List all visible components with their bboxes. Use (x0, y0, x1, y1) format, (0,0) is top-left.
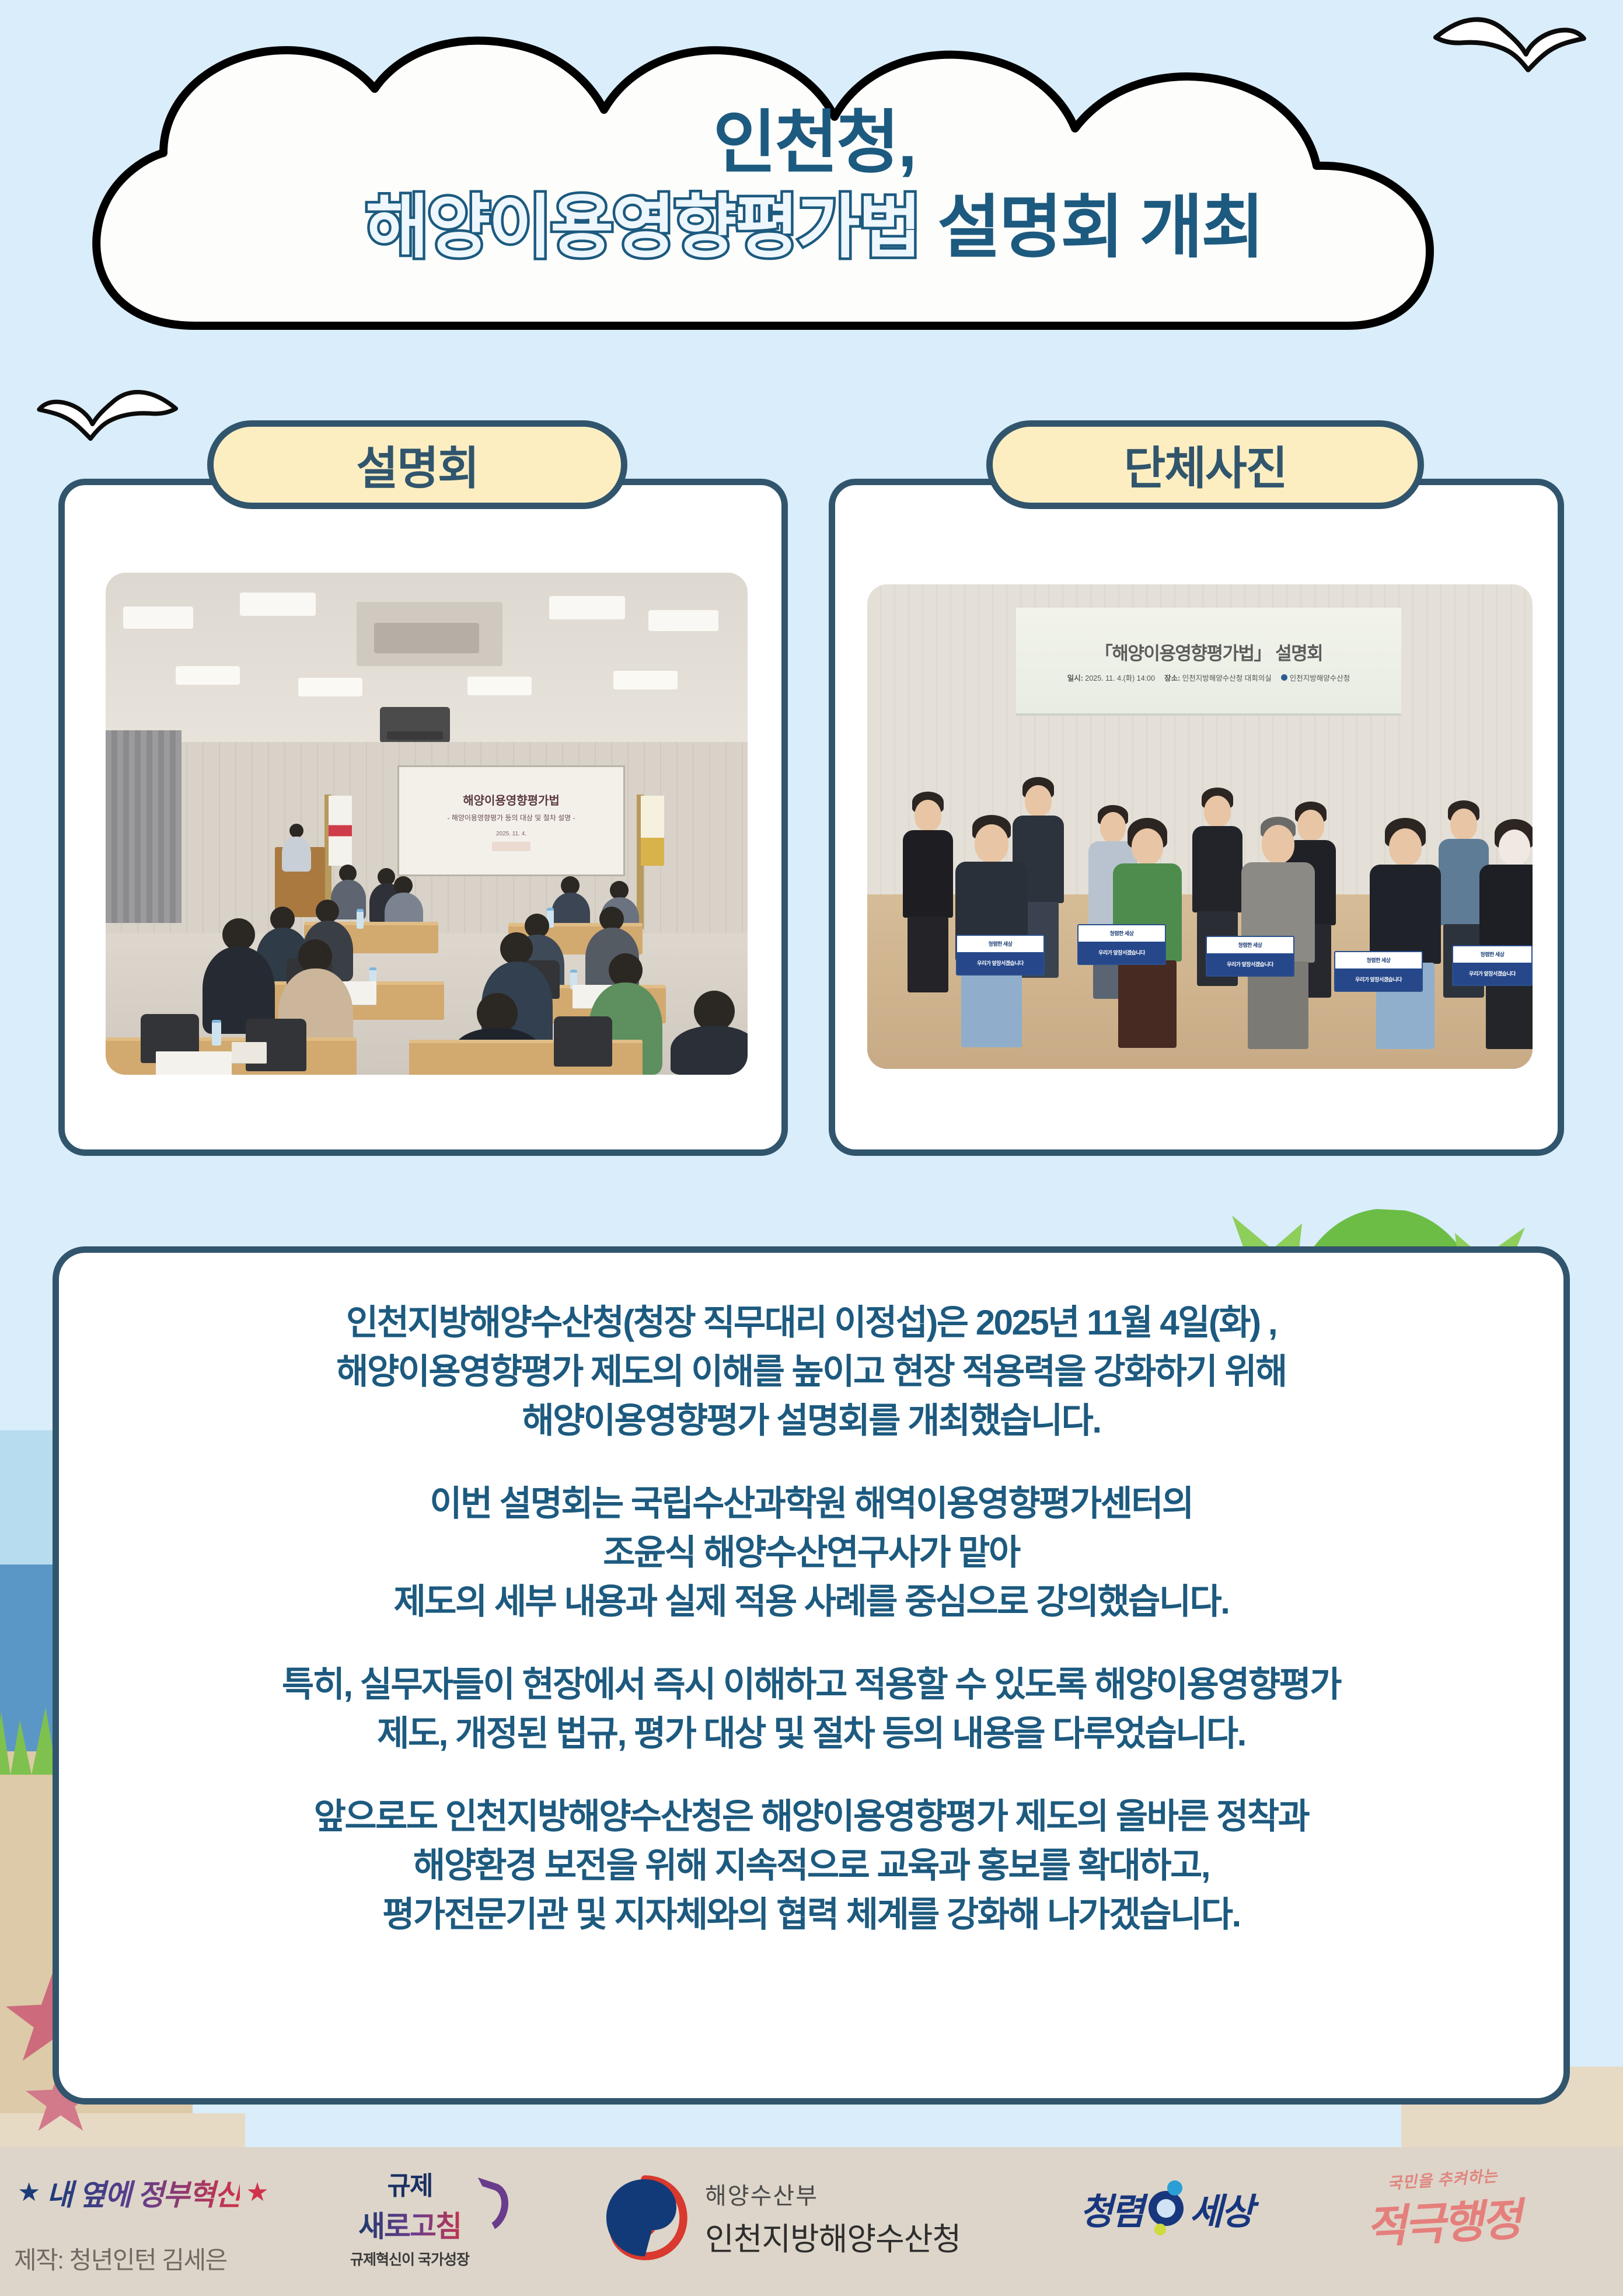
head (1204, 796, 1231, 827)
section-label-group-photo-text: 단체사진 (1123, 432, 1286, 497)
screen-where-label: 장소: (1164, 674, 1180, 682)
ceiling-light (549, 596, 625, 619)
screen-when: 일시: 2025. 11. 4.(화) 14:00 (1067, 672, 1155, 683)
refresh-arrow-icon (462, 2177, 514, 2237)
screen-when-value: 2025. 11. 4.(화) 14:00 (1085, 674, 1155, 682)
placard-top-text: 청렴한 세상 (957, 936, 1043, 952)
person-front-4 (1369, 818, 1441, 1043)
screen-subtitle: - 해양이용영향평가 등의 대상 및 절차 설명 - (447, 813, 575, 823)
paragraph-line: 제도의 세부 내용과 실제 적용 사례를 중심으로 강의했습니다. (111, 1577, 1511, 1626)
torso (903, 830, 953, 918)
screen-org-logo (492, 842, 530, 851)
page-title-line-2: 해양이용영향평가법 설명회 개최 (365, 184, 1262, 272)
placard: 청렴한 세상 우리가 앞장서겠습니다 (1206, 936, 1294, 977)
paragraph-line: 조윤식 해양수산연구사가 맡아 (111, 1528, 1511, 1577)
head (1132, 828, 1163, 865)
taeguk-emblem-icon (601, 2174, 689, 2262)
ceiling-light (176, 666, 240, 685)
water-bottle (212, 1020, 221, 1046)
group-photo-illustration: 「해양이용영향평가법」 설명회 일시: 2025. 11. 4.(화) 14:0… (867, 584, 1533, 1069)
paragraph-2: 이번 설명회는 국립수산과학원 해역이용영향평가센터의 조윤식 해양수산연구사가… (111, 1479, 1511, 1626)
head (1450, 809, 1477, 840)
reg-reform-line1: 규제 (387, 2165, 432, 2202)
projector-icon (380, 707, 450, 743)
screen-org-text: 인천지방해양수산청 (1290, 672, 1350, 683)
placard-top-text: 청렴한 세상 (1335, 952, 1422, 968)
handout-paper (156, 1051, 232, 1075)
paragraph-4: 앞으로도 인천지방해양수산청은 해양이용영향평가 제도의 올바른 정착과 해양환… (111, 1792, 1511, 1939)
logo-clean-world: 청렴 세상 (1080, 2182, 1252, 2235)
placard-bottom-text: 우리가 앞장서겠습니다 (957, 952, 1043, 974)
star-icon-left: ★ (18, 2180, 40, 2206)
active-admin-title: 적극행정 (1364, 2183, 1521, 2256)
section-label-briefing-text: 설명회 (356, 432, 478, 497)
attendee-body (671, 1026, 748, 1075)
torso (1370, 865, 1441, 964)
tissue-box (232, 1042, 267, 1063)
screen-details: 일시: 2025. 11. 4.(화) 14:00 장소: 인천지방해양수산청 … (1067, 672, 1350, 683)
ceiling-light (613, 671, 678, 689)
ministry-name: 해양수산부 (705, 2177, 961, 2211)
paragraph-1: 인천지방해양수산청(청장 직무대리 이정섭)은 2025년 11월 4일(화) … (111, 1298, 1511, 1445)
screen-title: 해양이용영향평가법 (463, 791, 560, 808)
production-credit: 제작: 청년인턴 김세은 (14, 2241, 227, 2276)
photo-group: 「해양이용영향평가법」 설명회 일시: 2025. 11. 4.(화) 14:0… (867, 584, 1533, 1069)
placard-bottom-text: 우리가 앞장서겠습니다 (1453, 963, 1531, 985)
screen-when-label: 일시: (1067, 674, 1083, 682)
paragraph-line: 평가전문기관 및 지자체와의 협력 체계를 강화해 나가겠습니다. (111, 1890, 1511, 1939)
attendee-head (316, 900, 339, 923)
presenter-body (282, 837, 311, 872)
logo-government-innovation: ★ 내 옆에 정부혁신 ★ (18, 2172, 269, 2214)
page-title-highlight: 해양이용영향평가법 (365, 189, 920, 266)
person-back-1 (902, 792, 954, 967)
placard-bottom-text: 우리가 앞장서겠습니다 (1207, 953, 1293, 975)
photo-briefing-room: 해양이용영향평가법 - 해양이용영향평가 등의 대상 및 절차 설명 - 202… (106, 573, 748, 1075)
head (915, 800, 941, 831)
paragraph-line: 인천지방해양수산청(청장 직무대리 이정섭)은 2025년 11월 4일(화) … (111, 1298, 1511, 1347)
placard: 청렴한 세상 우리가 앞장서겠습니다 (1334, 951, 1423, 992)
green-dot-icon (1154, 2224, 1166, 2235)
korean-flag-left (329, 796, 352, 866)
ac-vent-grille (374, 623, 479, 653)
head (1389, 828, 1422, 866)
ceiling-light (240, 593, 316, 616)
placard-top-text: 청렴한 세상 (1078, 925, 1165, 942)
header-cloud-banner: 인천청, 해양이용영향평가법 설명회 개최 (76, 28, 1552, 332)
clean-world-text-left: 청렴 (1080, 2182, 1143, 2235)
curtain (106, 730, 182, 923)
screen-where-value: 인천지방해양수산청 대회의실 (1182, 674, 1272, 682)
screen-date: 2025. 11. 4. (496, 831, 526, 837)
page-title-rest: 설명회 개최 (920, 189, 1262, 266)
head (1025, 785, 1052, 817)
presenter-head (289, 824, 303, 838)
placard: 청렴한 세상 우리가 앞장서겠습니다 (1452, 945, 1533, 986)
head (1262, 825, 1294, 863)
chair (554, 1016, 612, 1067)
paragraph-line: 해양환경 보전을 위해 지속적으로 교육과 홍보를 확대하고, (111, 1841, 1511, 1890)
person-front-5 (1479, 819, 1533, 1043)
attendee-head (500, 932, 533, 965)
screen-title: 「해양이용영향평가법」 설명회 (1095, 639, 1322, 665)
person-front-3 (1241, 817, 1315, 1043)
logo-ministry-of-oceans: 해양수산부 인천지방해양수산청 (601, 2174, 961, 2262)
clean-world-text-right: 세상 (1189, 2182, 1252, 2235)
placard-top-text: 청렴한 세상 (1207, 937, 1293, 953)
projection-screen-left: 해양이용영향평가법 - 해양이용영향평가 등의 대상 및 절차 설명 - 202… (397, 765, 625, 876)
placard: 청렴한 세상 우리가 앞장서겠습니다 (1077, 924, 1166, 965)
person-front-1 (955, 815, 1028, 1043)
placard-bottom-text: 우리가 앞장서겠습니다 (1335, 968, 1422, 991)
head (975, 824, 1008, 863)
article-body-card: 인천지방해양수산청(청장 직무대리 이정섭)은 2025년 11월 4일(화) … (53, 1246, 1570, 2105)
photo-card-group-photo: 「해양이용영향평가법」 설명회 일시: 2025. 11. 4.(화) 14:0… (829, 479, 1564, 1156)
paragraph-line: 앞으로도 인천지방해양수산청은 해양이용영향평가 제도의 올바른 정착과 (111, 1792, 1511, 1841)
reg-reform-line2: 새로고침 (358, 2203, 461, 2245)
legs (1118, 960, 1177, 1048)
reg-reform-tagline: 규제혁신이 국가성장 (350, 2248, 469, 2269)
paragraph-line: 특히, 실무자들이 현장에서 즉시 이해하고 적용할 수 있도록 해양이용영향평… (111, 1660, 1511, 1709)
legs (908, 917, 948, 992)
paragraph-line: 해양이용영향평가 설명회를 개최했습니다. (111, 1396, 1511, 1445)
footer-bar: ★ 내 옆에 정부혁신 ★ 제작: 청년인턴 김세은 규제 새로고침 규제혁신이… (0, 2147, 1623, 2296)
water-bottle (357, 909, 364, 929)
paragraph-3: 특히, 실무자들이 현장에서 즉시 이해하고 적용할 수 있도록 해양이용영향평… (111, 1660, 1511, 1758)
photo-card-briefing: 해양이용영향평가법 - 해양이용영향평가 등의 대상 및 절차 설명 - 202… (58, 479, 788, 1156)
paragraph-line: 해양이용영향평가 제도의 이해를 높이고 현장 적용력을 강화하기 위해 (111, 1347, 1511, 1396)
placard-top-text: 청렴한 세상 (1453, 946, 1531, 963)
screen-org: 인천지방해양수산청 (1281, 672, 1350, 683)
placard-bottom-text: 우리가 앞장서겠습니다 (1078, 942, 1165, 964)
head-with-mask (1499, 830, 1530, 866)
placard: 청렴한 세상 우리가 앞장서겠습니다 (956, 935, 1045, 975)
section-label-group-photo: 단체사진 (986, 420, 1424, 509)
ceiling-light (467, 677, 532, 695)
agency-flag-right (641, 796, 664, 866)
paragraph-line: 제도, 개정된 법규, 평가 대상 및 절차 등의 내용을 다루었습니다. (111, 1709, 1511, 1758)
paragraph-line: 이번 설명회는 국립수산과학원 해역이용영향평가센터의 (111, 1479, 1511, 1528)
screen-where: 장소: 인천지방해양수산청 대회의실 (1164, 672, 1272, 683)
projection-screen-right: 「해양이용영향평가법」 설명회 일시: 2025. 11. 4.(화) 14:0… (1016, 608, 1401, 716)
logo-regulation-reform: 규제 새로고침 규제혁신이 국가성장 (350, 2165, 469, 2269)
meeting-room-illustration: 해양이용영향평가법 - 해양이용영향평가 등의 대상 및 절차 설명 - 202… (106, 573, 748, 1075)
gov-innovation-text: 내 옆에 정부혁신 (46, 2172, 240, 2214)
org-logo-icon (1281, 674, 1287, 681)
seagull-icon-left (35, 379, 181, 443)
ceiling-light (123, 607, 193, 629)
ceiling-light (298, 678, 362, 696)
agency-name: 인천지방해양수산청 (705, 2213, 961, 2259)
page-title-line-1: 인천청, (713, 103, 915, 184)
star-icon-right: ★ (246, 2180, 268, 2206)
section-label-briefing: 설명회 (207, 420, 627, 509)
logo-active-administration: 국민을 추켜하는 적극행정 (1366, 2167, 1520, 2252)
ceiling-light (648, 610, 718, 631)
torso (1192, 826, 1242, 912)
blue-dot-icon (1167, 2180, 1182, 2196)
clean-world-emblem-icon (1149, 2191, 1184, 2226)
